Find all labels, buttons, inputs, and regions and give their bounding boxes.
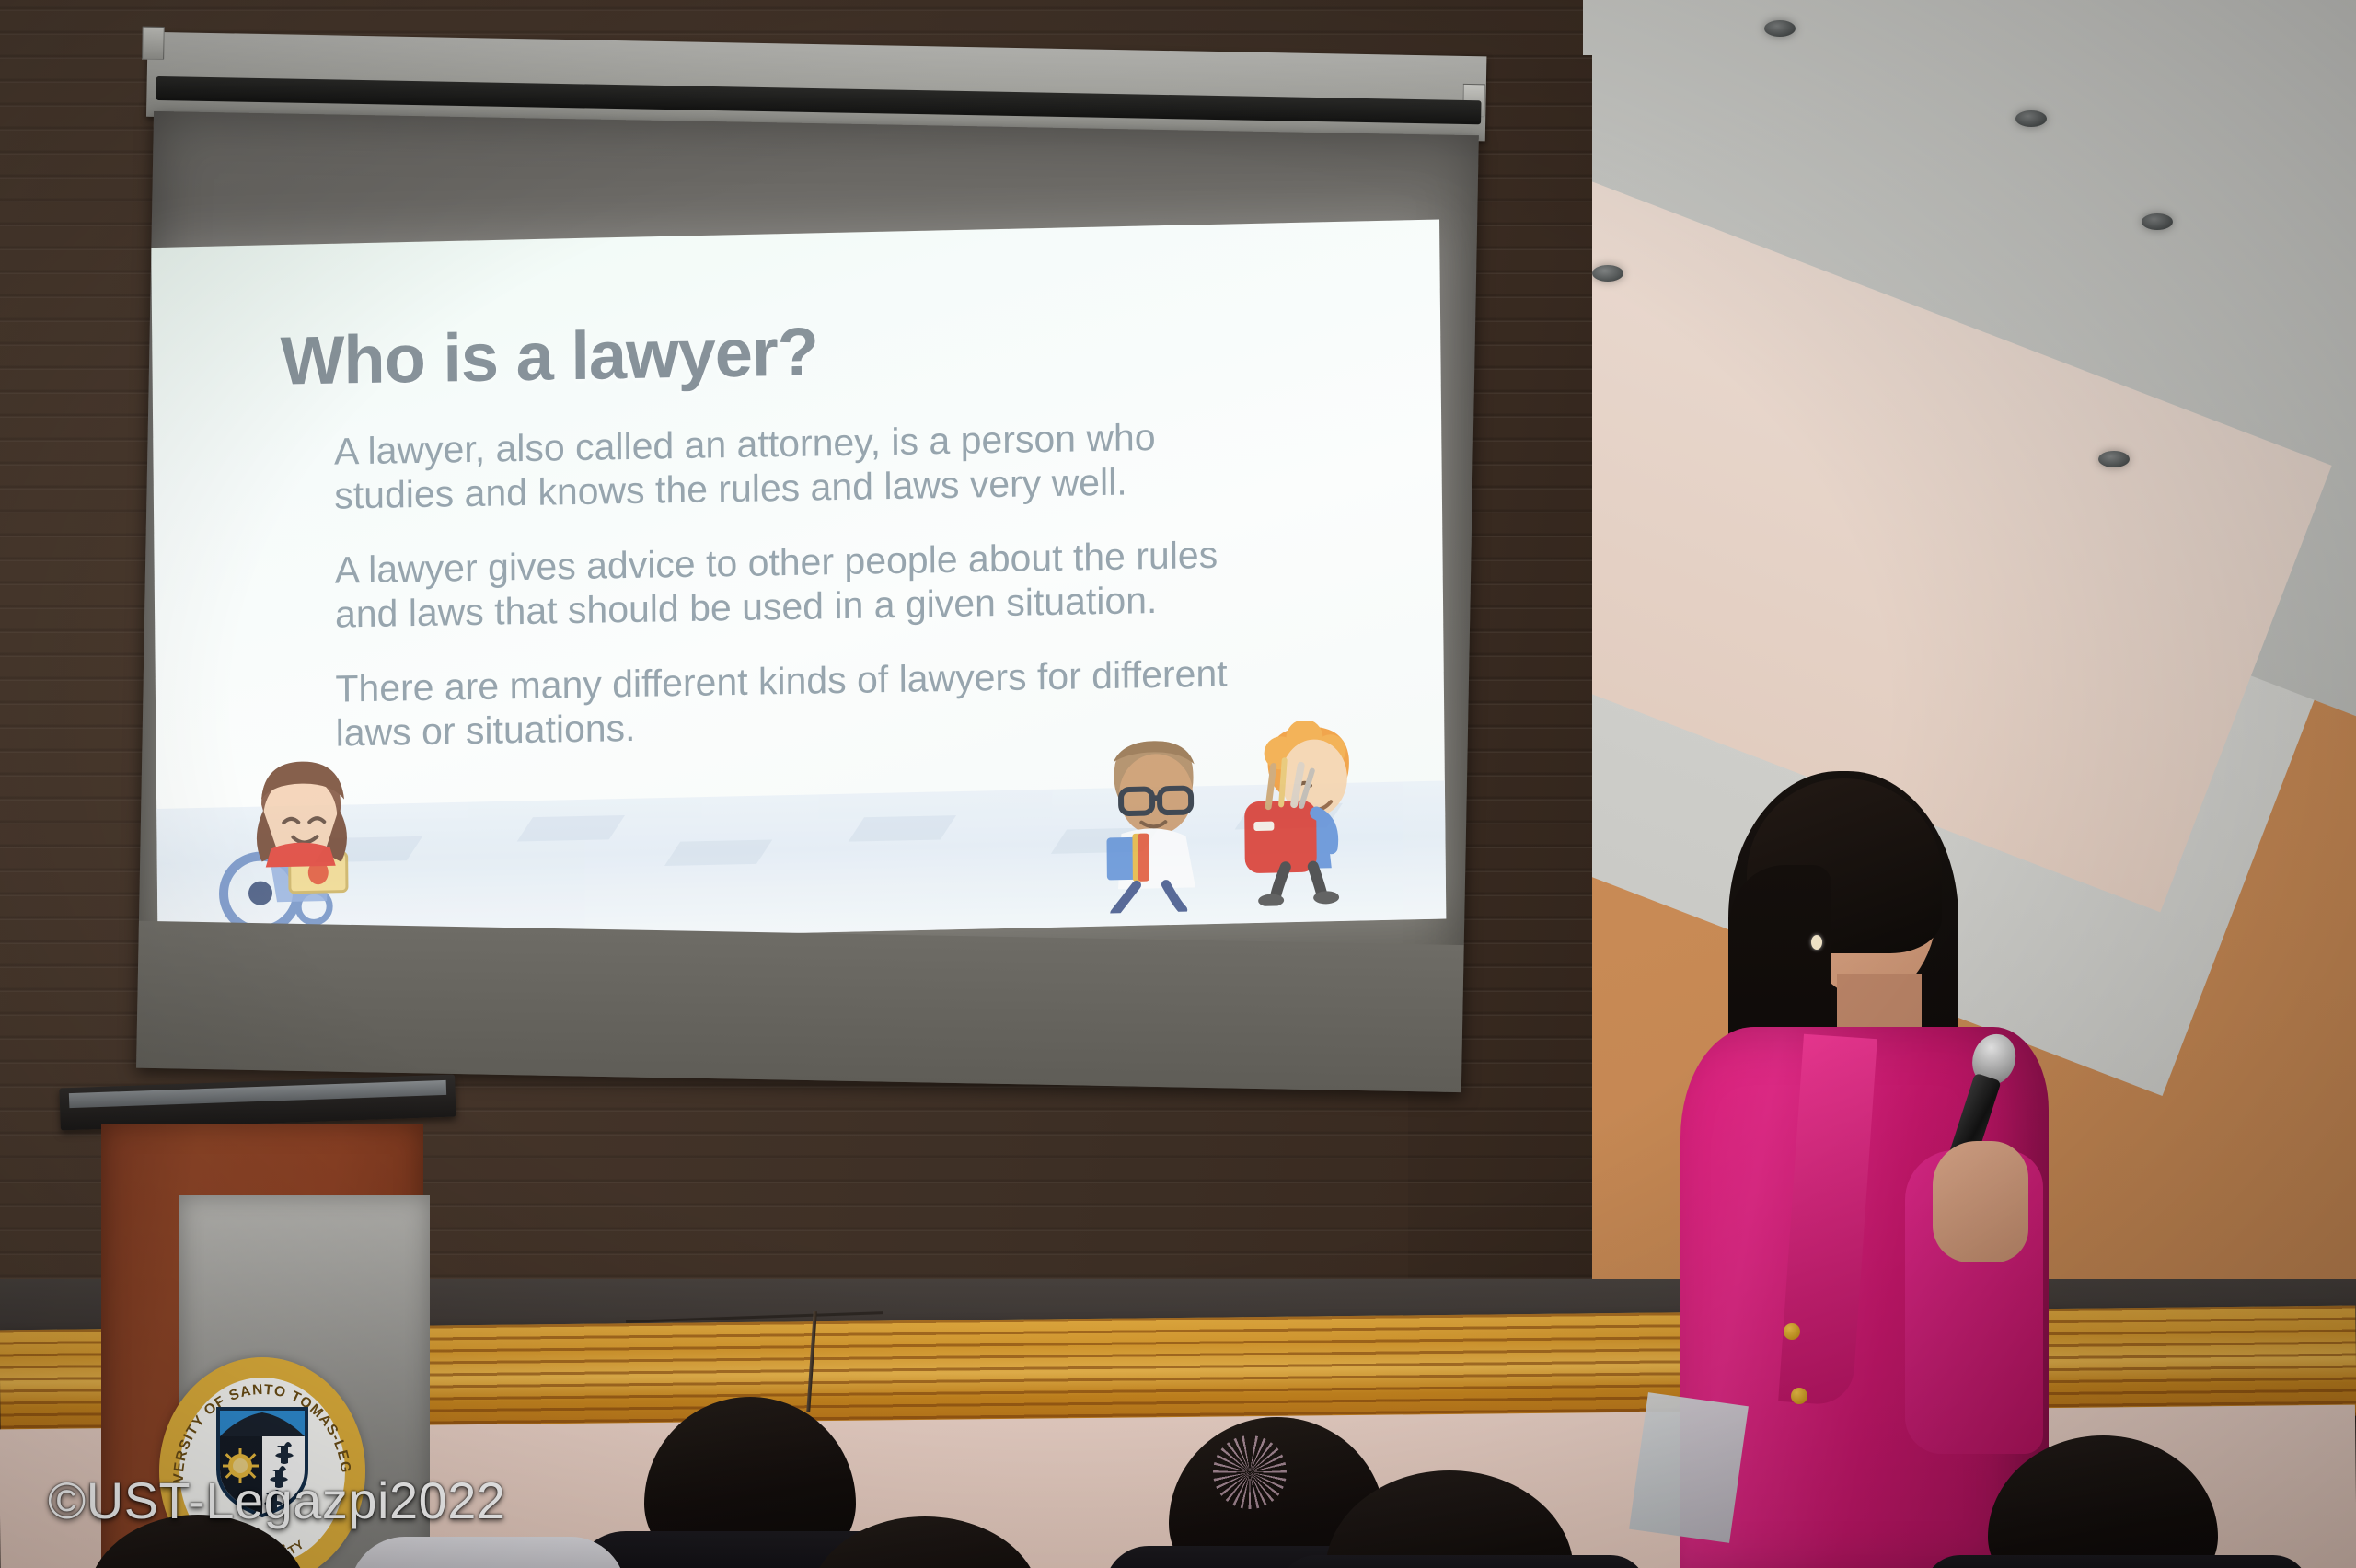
ceiling-downlight-icon <box>1764 20 1796 37</box>
screen-surface: Who is a lawyer? A lawyer, also called a… <box>136 111 1479 1092</box>
photo-scene: Who is a lawyer? A lawyer, also called a… <box>0 0 2356 1568</box>
speaker-hand <box>1933 1141 2028 1262</box>
screen-lower-dark-band <box>136 921 1464 1092</box>
audience-shoulders <box>1923 1555 2310 1568</box>
ceiling-downlight-icon <box>2015 110 2047 127</box>
copyright-watermark: ©UST-Legazpi2022 <box>48 1470 506 1530</box>
boy-with-glasses-running-illustration <box>1087 736 1227 914</box>
audience-shoulders <box>1279 1555 1647 1568</box>
girl-in-wheelchair-illustration <box>203 744 380 931</box>
blazer-button <box>1784 1323 1800 1340</box>
audience-shoulders <box>350 1537 626 1568</box>
ceiling-downlight-icon <box>2098 451 2130 467</box>
slide-paragraph-1: A lawyer, also called an attorney, is a … <box>334 414 1282 518</box>
boy-with-red-backpack-illustration <box>1212 721 1361 907</box>
speaker-held-papers <box>1629 1392 1749 1543</box>
hair-ornament <box>1213 1435 1287 1509</box>
slide-title: Who is a lawyer? <box>280 303 1382 400</box>
slide-paragraph-2: A lawyer gives advice to other people ab… <box>335 533 1283 637</box>
screen-mount-bracket-left <box>142 27 165 60</box>
ceiling-downlight-icon <box>2142 213 2173 230</box>
ceiling-downlight-icon <box>1592 265 1623 282</box>
speaker-earring <box>1811 935 1822 950</box>
projected-slide: Who is a lawyer? A lawyer, also called a… <box>151 220 1446 948</box>
blazer-button <box>1791 1388 1807 1404</box>
projection-screen: Who is a lawyer? A lawyer, also called a… <box>129 32 1492 1115</box>
